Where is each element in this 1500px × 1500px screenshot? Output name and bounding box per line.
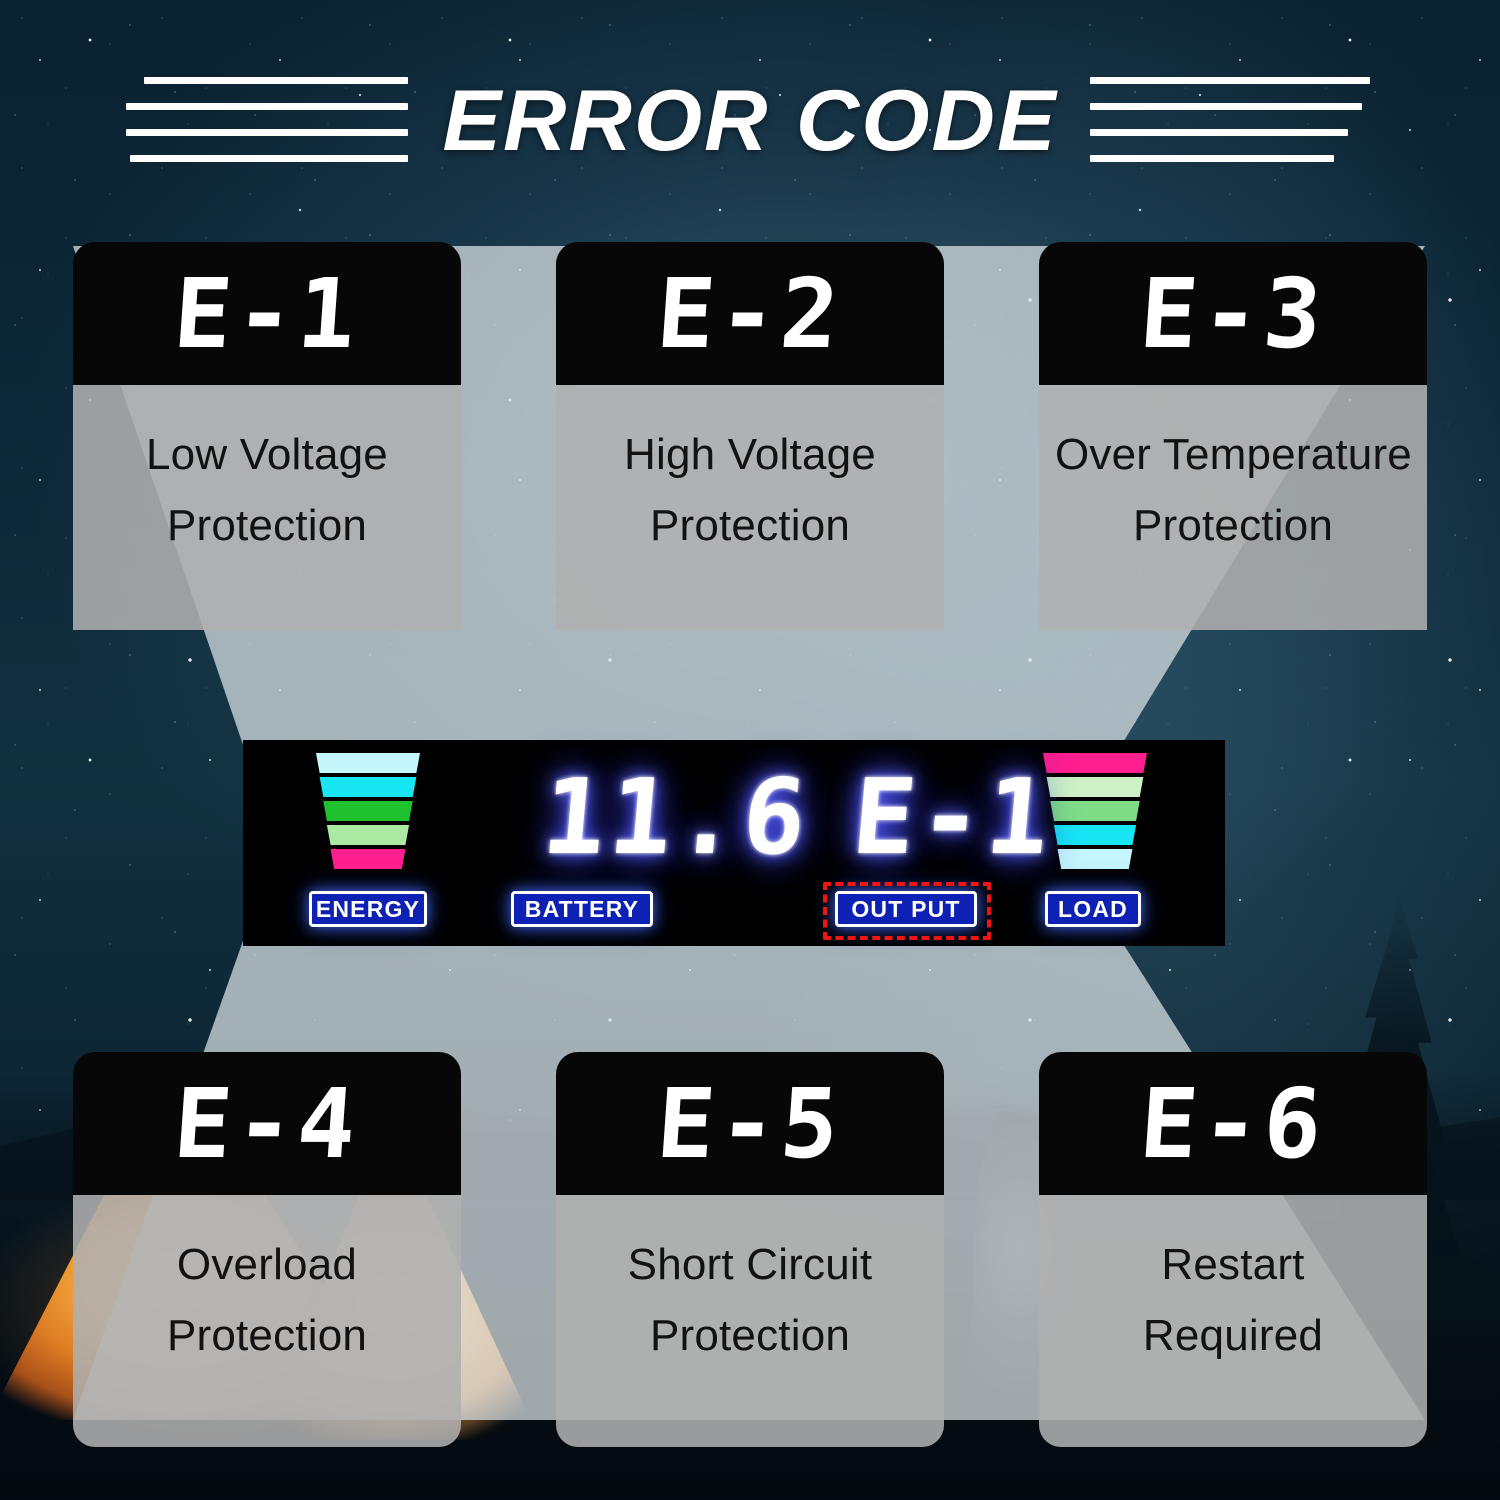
error-code-text: E-5 [654,1076,846,1172]
error-code-text: E-3 [1137,266,1329,362]
error-code-text: E-4 [171,1076,363,1172]
error-card-e3[interactable]: E-3 Over Temperature Protection [1039,242,1427,630]
error-code-display-e5: E-5 [556,1052,944,1195]
error-card-e1[interactable]: E-1 Low Voltage Protection [73,242,461,630]
error-code-display-e6: E-6 [1039,1052,1427,1195]
error-description-line2: Required [1055,1300,1411,1371]
error-code-text: E-1 [171,266,363,362]
error-description-line2: Protection [1055,490,1411,561]
error-description-line1: Over Temperature [1055,419,1411,490]
error-description-line1: High Voltage [572,419,928,490]
output-highlight-box [823,882,991,940]
error-description-line2: Protection [572,490,928,561]
error-code-display-e4: E-4 [73,1052,461,1195]
error-description-line2: Protection [89,490,445,561]
speed-lines-right-icon [1090,58,1420,178]
label-battery[interactable]: BATTERY [511,891,653,927]
error-code-display-e3: E-3 [1039,242,1427,385]
label-load[interactable]: LOAD [1045,891,1141,927]
error-card-body-e1: Low Voltage Protection [73,385,461,630]
page-header: ERROR CODE [0,58,1500,178]
output-error-value: E-1 [848,765,1057,869]
inverter-lcd-display[interactable]: 11.6 E-1 ENERGY BATTERY OUT PUT LOAD [243,740,1225,946]
error-card-e2[interactable]: E-2 High Voltage Protection [556,242,944,630]
error-code-text: E-6 [1137,1076,1329,1172]
error-code-display-e2: E-2 [556,242,944,385]
error-card-e5[interactable]: E-5 Short Circuit Protection [556,1052,944,1447]
error-description-line2: Protection [572,1300,928,1371]
error-card-body-e2: High Voltage Protection [556,385,944,630]
battery-voltage-value: 11.6 [538,765,814,869]
load-bargraph-icon [1043,753,1147,873]
label-energy[interactable]: ENERGY [309,891,427,927]
error-card-body-e4: Overload Protection [73,1195,461,1447]
error-description-line1: Low Voltage [89,419,445,490]
error-description-line1: Short Circuit [572,1229,928,1300]
error-card-body-e6: Restart Required [1039,1195,1427,1447]
error-card-body-e5: Short Circuit Protection [556,1195,944,1447]
error-card-e4[interactable]: E-4 Overload Protection [73,1052,461,1447]
error-card-e6[interactable]: E-6 Restart Required [1039,1052,1427,1447]
error-description-line1: Restart [1055,1229,1411,1300]
error-code-text: E-2 [654,266,846,362]
error-description-line1: Overload [89,1229,445,1300]
error-card-body-e3: Over Temperature Protection [1039,385,1427,630]
error-code-display-e1: E-1 [73,242,461,385]
error-description-line2: Protection [89,1300,445,1371]
energy-bargraph-icon [316,753,420,873]
